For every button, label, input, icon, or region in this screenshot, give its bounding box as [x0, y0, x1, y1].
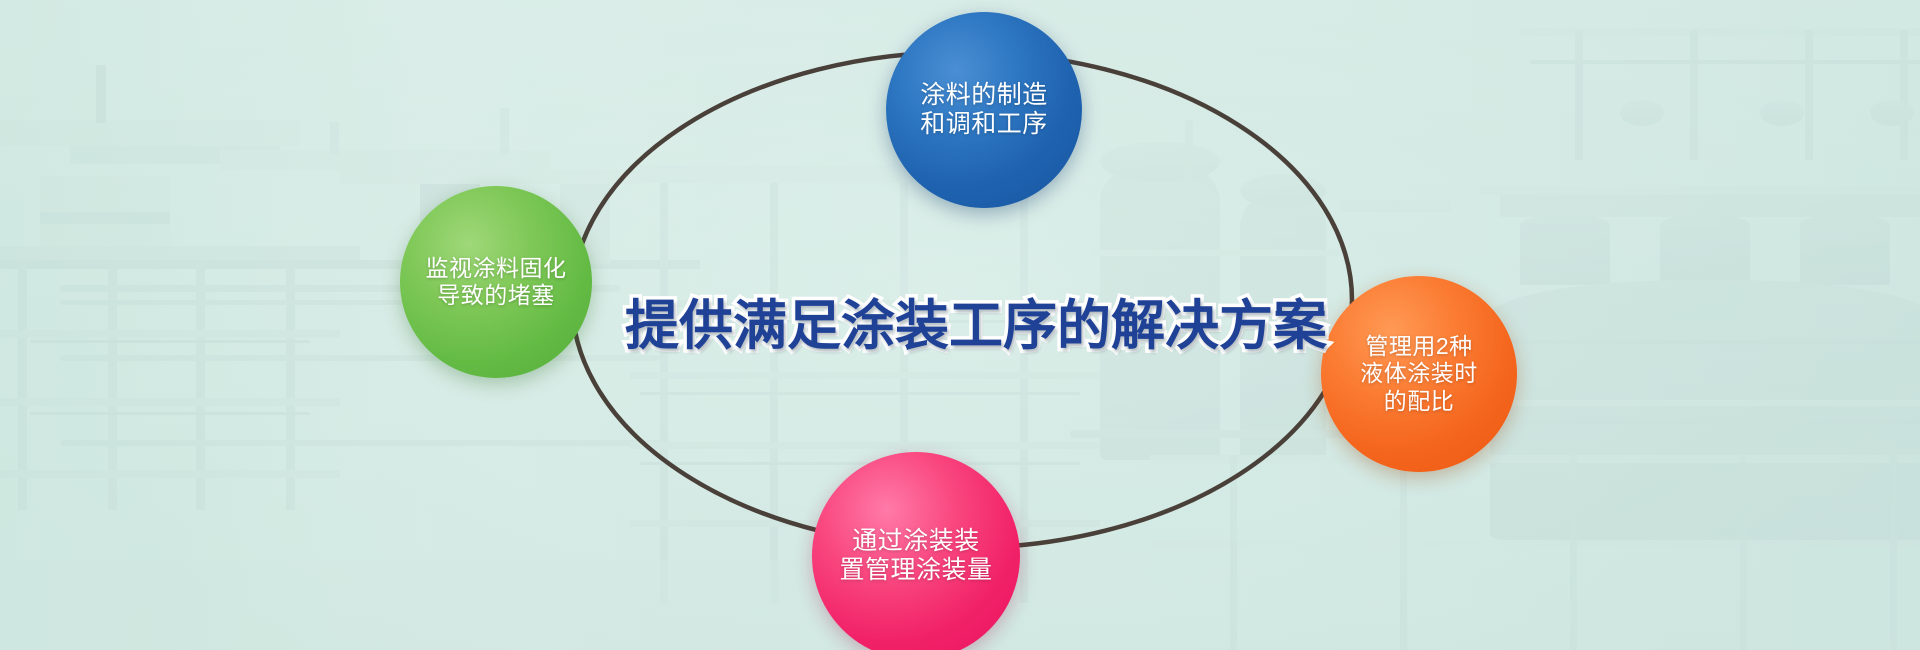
solution-banner: 涂料的制造 和调和工序 监视涂料固化 导致的堵塞 管理用2种 液体涂装时 的配比…: [0, 0, 1920, 650]
bubble-coating-volume-management[interactable]: 通过涂装装 置管理涂装量: [812, 452, 1020, 650]
bubble-label-curing-clog-monitoring: 监视涂料固化 导致的堵塞: [420, 255, 573, 309]
bubble-paint-manufacturing[interactable]: 涂料的制造 和调和工序: [886, 12, 1082, 208]
bubble-label-paint-manufacturing: 涂料的制造 和调和工序: [914, 81, 1054, 140]
bubble-label-coating-volume-management: 通过涂装装 置管理涂装量: [833, 527, 998, 586]
bubble-label-two-liquid-ratio-management: 管理用2种 液体涂装时 的配比: [1354, 333, 1484, 414]
bubble-two-liquid-ratio-management[interactable]: 管理用2种 液体涂装时 的配比: [1321, 276, 1517, 472]
bubble-curing-clog-monitoring[interactable]: 监视涂料固化 导致的堵塞: [400, 186, 592, 378]
banner-headline: 提供满足涂装工序的解决方案: [625, 298, 1327, 355]
